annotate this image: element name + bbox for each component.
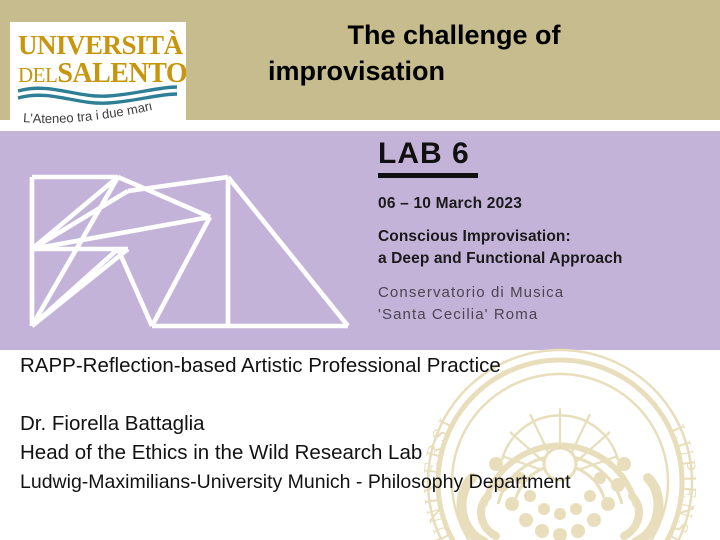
lab-title: LAB 6 xyxy=(378,139,708,169)
slide: UNIVERSITÀ DELSALENTO L'Ateneo tra i due… xyxy=(0,0,720,540)
lab-dates: 06 – 10 March 2023 xyxy=(378,195,708,213)
body-text-block: RAPP-Reflection-based Artistic Professio… xyxy=(20,352,710,496)
logo-tagline: L'Ateneo tra i due mari xyxy=(20,102,180,126)
page-title: The challenge of improvisation xyxy=(196,18,712,89)
logo-universita-text: UNIVERSITÀ xyxy=(18,30,183,61)
body-line-rapp: RAPP-Reflection-based Artistic Professio… xyxy=(20,352,710,380)
lab-venue-line2: 'Santa Cecilia' Roma xyxy=(378,304,708,326)
lab-venue: Conservatorio di Musica 'Santa Cecilia' … xyxy=(378,282,708,326)
poster-band: LAB 6 06 – 10 March 2023 Conscious Impro… xyxy=(0,131,720,350)
body-line-affiliation: Ludwig-Maximilians-University Munich - P… xyxy=(20,468,710,496)
geometric-line-artwork xyxy=(0,131,370,350)
logo-tagline-text: L'Ateneo tra i due mari xyxy=(23,102,154,126)
page-title-line2: improvisation xyxy=(196,54,712,90)
page-title-line1: The challenge of xyxy=(347,20,560,50)
body-spacer xyxy=(20,380,710,409)
poster-text-block: LAB 6 06 – 10 March 2023 Conscious Impro… xyxy=(378,139,708,326)
lab-title-underline xyxy=(378,173,478,178)
body-line-presenter-role: Head of the Ethics in the Wild Research … xyxy=(20,438,710,468)
lab-subject: Conscious Improvisation: a Deep and Func… xyxy=(378,226,708,270)
lab-subject-line2: a Deep and Functional Approach xyxy=(378,248,708,270)
universita-del-salento-logo: UNIVERSITÀ DELSALENTO L'Ateneo tra i due… xyxy=(10,22,186,126)
body-line-presenter-name: Dr. Fiorella Battaglia xyxy=(20,409,710,439)
lab-venue-line1: Conservatorio di Musica xyxy=(378,282,708,304)
lab-subject-line1: Conscious Improvisation: xyxy=(378,226,708,248)
